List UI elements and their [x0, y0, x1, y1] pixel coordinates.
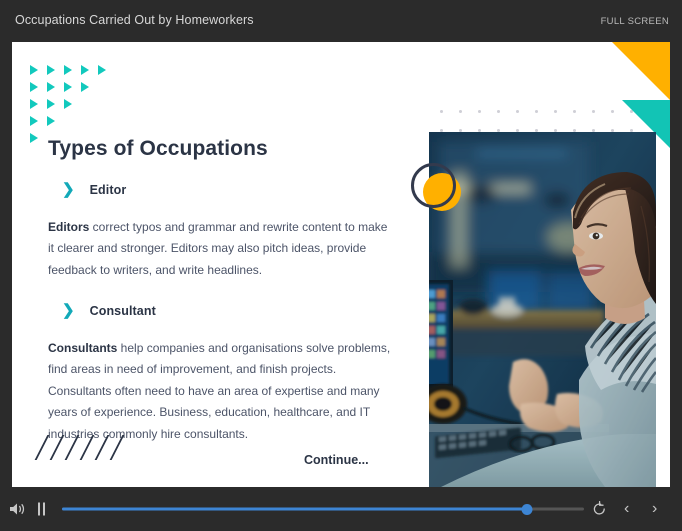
paragraph-consultant-rest: help companies and organisations solve p… — [48, 341, 390, 440]
chevron-right-icon: › — [652, 500, 657, 518]
play-triangle-icon — [81, 82, 89, 92]
grid-dot — [535, 110, 538, 113]
elearning-player: Occupations Carried Out by Homeworkers F… — [0, 0, 682, 531]
play-triangle-icon — [47, 65, 55, 75]
grid-dot — [573, 110, 576, 113]
slash-mark — [95, 435, 110, 460]
ring-circle-decoration — [411, 163, 456, 208]
slide-photo — [429, 132, 656, 487]
bullet-label-editor: Editor — [90, 183, 127, 197]
progress-track[interactable] — [62, 508, 584, 511]
progress-knob[interactable] — [521, 504, 532, 515]
slide-content: Types of Occupations ❯ Editor Editors co… — [48, 137, 393, 467]
replay-icon[interactable] — [592, 501, 607, 517]
progress-fill — [62, 508, 527, 511]
triangle-row — [30, 113, 115, 130]
pause-bar-left — [38, 503, 40, 516]
grid-dot — [611, 110, 614, 113]
play-triangle-icon — [30, 99, 38, 109]
bullet-editor[interactable]: ❯ Editor — [62, 182, 393, 197]
fullscreen-button[interactable]: FULL SCREEN — [601, 16, 669, 27]
grid-dot — [478, 110, 481, 113]
player-controls-bar: ‹ › — [0, 487, 682, 531]
chevron-left-icon: ‹ — [624, 500, 629, 518]
play-triangle-icon — [30, 82, 38, 92]
play-triangle-icon — [30, 116, 38, 126]
triangle-row — [30, 96, 115, 113]
previous-slide-button[interactable]: ‹ — [624, 500, 629, 518]
play-triangle-icon — [30, 133, 38, 143]
pause-icon[interactable] — [38, 503, 48, 516]
triangle-decoration — [30, 62, 115, 147]
triangle-row — [30, 62, 115, 79]
grid-dot — [516, 110, 519, 113]
volume-icon[interactable] — [9, 502, 26, 517]
grid-dot — [440, 110, 443, 113]
play-triangle-icon — [64, 82, 72, 92]
chevron-right-icon: ❯ — [62, 182, 75, 197]
top-bar: Occupations Carried Out by Homeworkers F… — [0, 0, 682, 42]
slash-mark — [80, 435, 95, 460]
slide-canvas: Types of Occupations ❯ Editor Editors co… — [12, 42, 670, 487]
play-triangle-icon — [47, 116, 55, 126]
slash-mark — [35, 435, 50, 460]
grid-dot — [459, 110, 462, 113]
paragraph-consultant: Consultants help companies and organisat… — [48, 338, 393, 445]
continue-button[interactable]: Continue... — [304, 453, 369, 467]
pause-bar-right — [43, 503, 45, 516]
paragraph-editor-rest: correct typos and grammar and rewrite co… — [48, 220, 387, 277]
play-triangle-icon — [64, 65, 72, 75]
paragraph-editor: Editors correct typos and grammar and re… — [48, 217, 393, 281]
slash-mark — [50, 435, 65, 460]
grid-dot — [592, 110, 595, 113]
play-triangle-icon — [81, 65, 89, 75]
play-triangle-icon — [98, 65, 106, 75]
bullet-label-consultant: Consultant — [90, 304, 156, 318]
paragraph-editor-lead: Editors — [48, 220, 89, 234]
bullet-consultant[interactable]: ❯ Consultant — [62, 303, 393, 318]
triangle-row — [30, 79, 115, 96]
chevron-right-icon: ❯ — [62, 303, 75, 318]
play-triangle-icon — [47, 99, 55, 109]
slash-mark — [65, 435, 80, 460]
play-triangle-icon — [64, 99, 72, 109]
course-title: Occupations Carried Out by Homeworkers — [15, 13, 254, 27]
grid-dot — [497, 110, 500, 113]
slash-mark — [110, 435, 125, 460]
slash-decoration — [41, 435, 131, 465]
next-slide-button[interactable]: › — [652, 500, 657, 518]
play-triangle-icon — [30, 65, 38, 75]
slide-title: Types of Occupations — [48, 137, 393, 161]
paragraph-consultant-lead: Consultants — [48, 341, 117, 355]
grid-dot — [554, 110, 557, 113]
orange-corner-triangle-icon — [612, 42, 670, 100]
play-triangle-icon — [47, 82, 55, 92]
